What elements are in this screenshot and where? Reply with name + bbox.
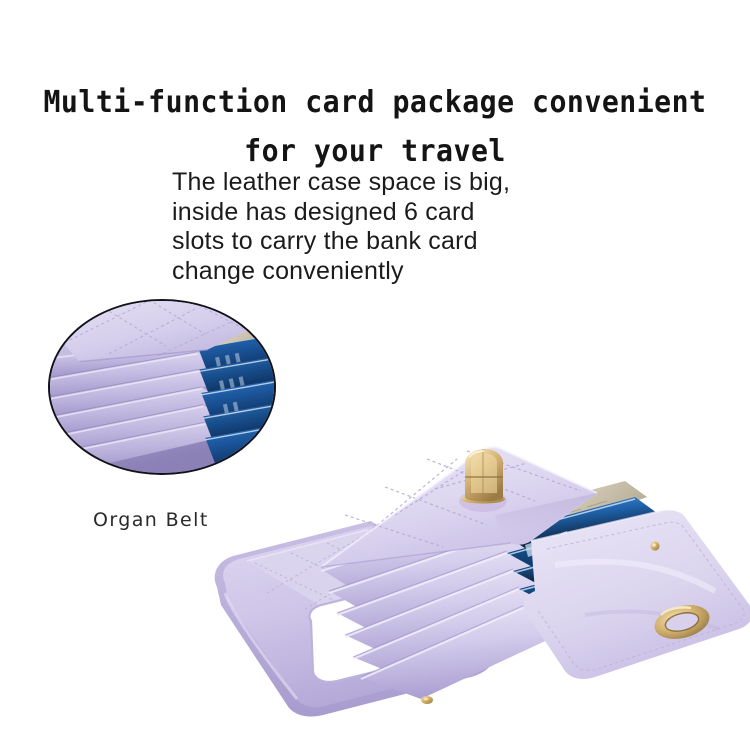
product-photo — [195, 415, 750, 749]
right-open-flap — [523, 510, 750, 679]
description-line-4: change conveniently — [172, 257, 602, 287]
description-line-2: inside has designed 6 card — [172, 198, 602, 228]
page-headline: Multi-function card package convenient f… — [23, 78, 728, 176]
detail-inset-caption: Organ Belt — [93, 509, 209, 531]
description-line-3: slots to carry the bank card — [172, 227, 602, 257]
description-line-1: The leather case space is big, — [172, 168, 602, 198]
headline-line-1: Multi-function card package convenient — [43, 85, 706, 120]
product-description: The leather case space is big, inside ha… — [172, 168, 602, 286]
product-illustration — [195, 415, 750, 749]
turn-lock-clasp — [459, 449, 507, 512]
detail-inset-circle — [48, 299, 276, 475]
base-rivet — [421, 696, 433, 704]
detail-inset-illustration — [50, 301, 274, 473]
